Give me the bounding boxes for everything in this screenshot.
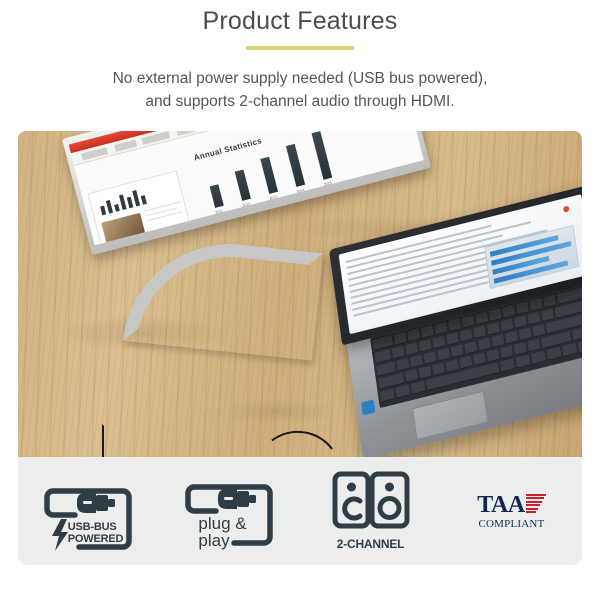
stereo-speakers-icon <box>331 471 411 533</box>
title-accent-rule <box>246 46 354 50</box>
badge-taa-compliant: TAA COMPLIANT <box>441 457 582 565</box>
laptop-screen-accent-dot <box>563 205 570 212</box>
badge-two-channel: 2-CHANNEL <box>300 457 441 565</box>
badge-plug-and-play: plug & play <box>159 457 300 565</box>
two-channel-label: 2-CHANNEL <box>337 537 405 551</box>
plug-and-play-label: plug & play <box>198 515 246 549</box>
page-title: Product Features <box>0 6 600 36</box>
taa-logo: TAA COMPLIANT <box>477 493 545 530</box>
monitor-side-minichart <box>96 183 161 216</box>
taa-flag-stripes-icon <box>526 494 546 514</box>
subtitle-line-1: No external power supply needed (USB bus… <box>0 67 600 90</box>
taa-logo-top: TAA <box>477 493 545 517</box>
badge-usb-bus-powered: USB-BUS POWERED <box>18 457 159 565</box>
usb-bus-powered-label: USB-BUS POWERED <box>68 521 123 545</box>
product-feature-page: Product Features No external power suppl… <box>0 0 600 600</box>
header: Product Features No external power suppl… <box>0 0 600 113</box>
intel-badge-icon <box>361 399 375 415</box>
feature-badge-strip: USB-BUS POWERED plug & play <box>18 457 582 565</box>
subtitle: No external power supply needed (USB bus… <box>0 67 600 113</box>
taa-text: TAA <box>477 493 524 517</box>
product-photo: Annual Statistics 2011 2012 2013 2014 20… <box>18 131 582 457</box>
taa-subtext: COMPLIANT <box>479 518 545 530</box>
usb-cable-left <box>102 424 220 457</box>
subtitle-line-2: and supports 2-channel audio through HDM… <box>0 90 600 113</box>
